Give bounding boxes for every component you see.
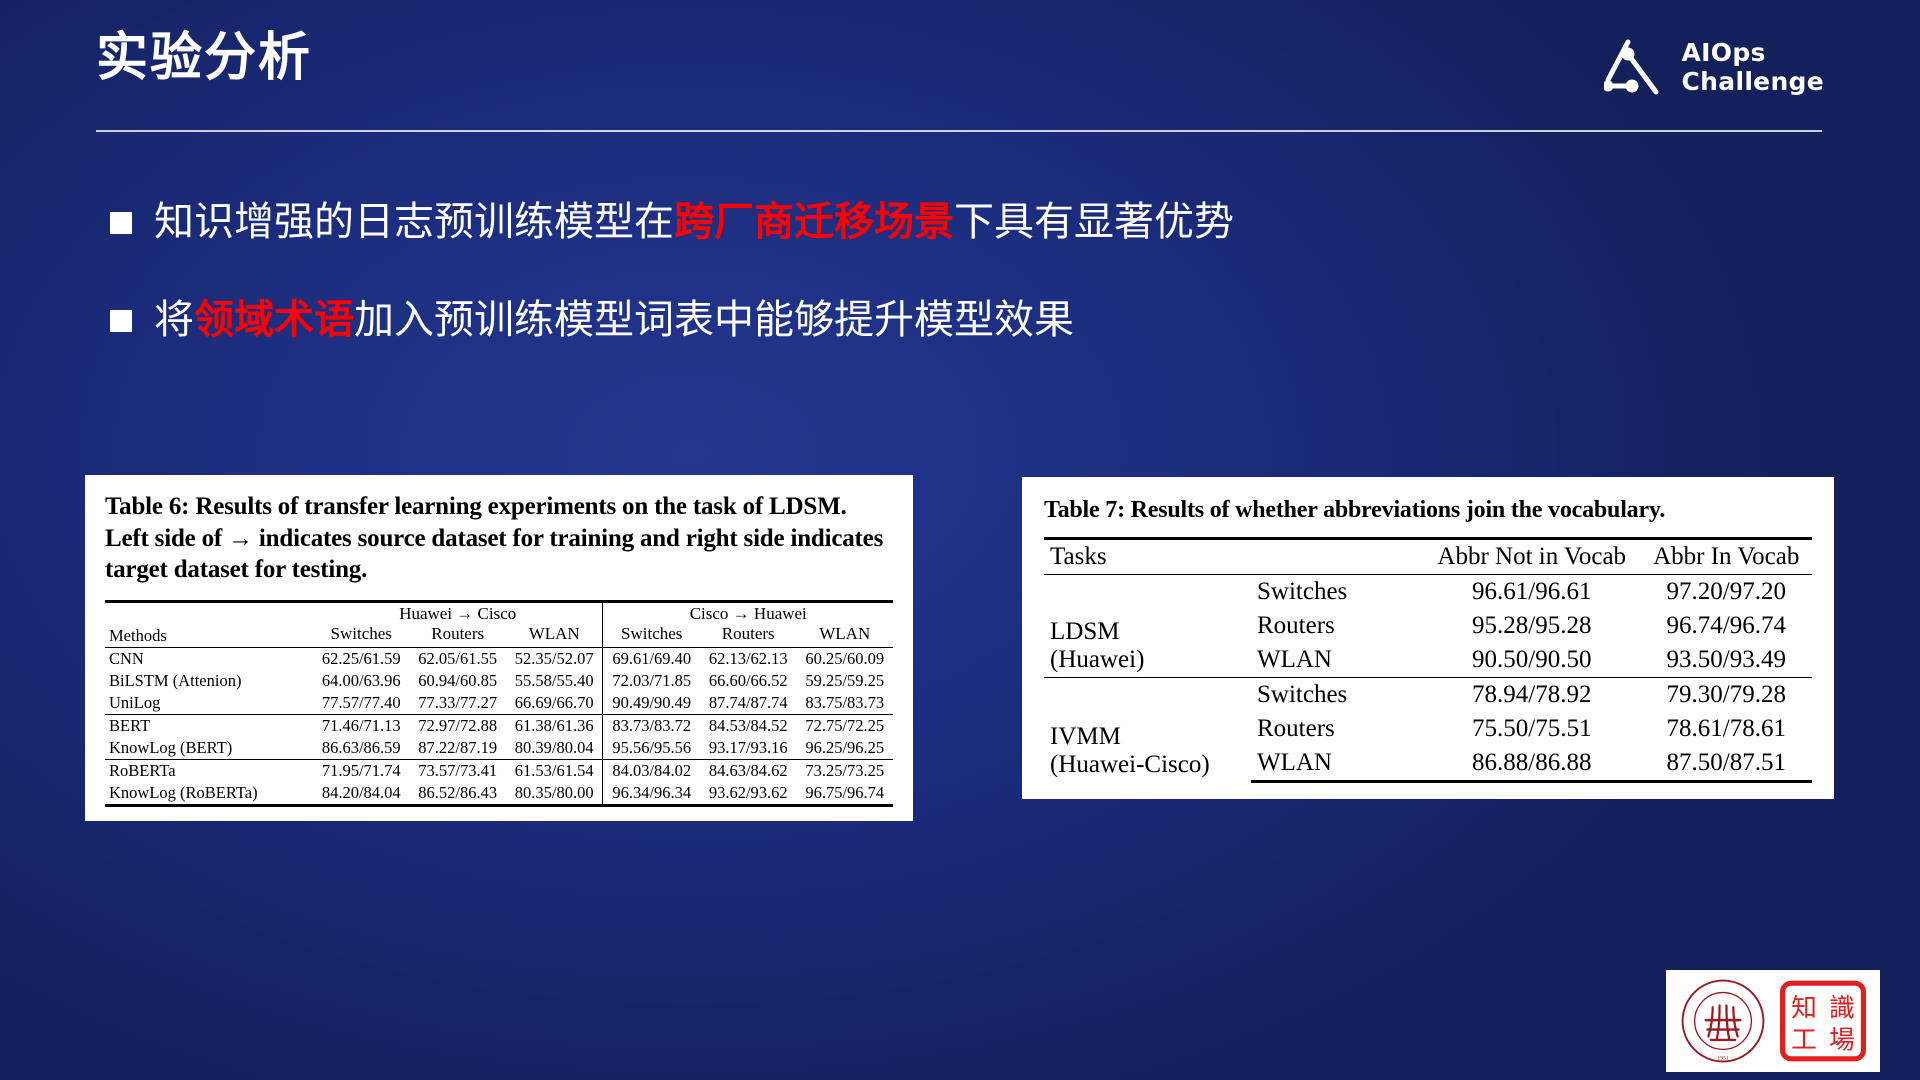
table-6-cell: 61.38/61.36 [506,714,603,737]
table-7-header-in-vocab: Abbr In Vocab [1640,539,1812,575]
table-7-device: Routers [1251,609,1423,643]
table-7-cell-not-in-vocab: 75.50/75.51 [1423,712,1640,746]
table-6-cell: 80.35/80.00 [506,782,603,806]
table-6-cell: 60.25/60.09 [796,647,893,670]
slide-root: 实验分析 AIOps Challenge 知识增强的日志预训练模型在跨厂商迁移场… [0,0,1920,1080]
table-6-method: RoBERTa [105,759,313,782]
table-6-cell: 60.94/60.85 [409,670,505,692]
table-6-sub-wlan-2: WLAN [796,624,893,648]
table-6-sub-routers-2: Routers [700,624,796,648]
square-bullet-icon [110,212,132,234]
table-6-cell: 62.13/62.13 [700,647,796,670]
brand-text: AIOps Challenge [1682,38,1824,96]
seal-char-chang: 場 [1829,1026,1855,1056]
table-row: BERT 71.46/71.13 72.97/72.88 61.38/61.36… [105,714,893,737]
donghua-university-seal-logo: · 1951 · [1680,978,1766,1064]
bullet-2-highlight: 领域术语 [194,297,354,343]
table-6-cell: 83.73/83.72 [603,714,700,737]
table-6: Methods Huawei → Cisco Cisco → Huawei Sw… [105,600,893,807]
table-6-cell: 77.57/77.40 [313,692,409,715]
dhu-year-text: · 1951 · [1714,1056,1732,1062]
table-6-method: KnowLog (RoBERTa) [105,782,313,806]
table-6-methods-header: Methods [105,601,313,647]
seal-char-shi: 識 [1829,994,1855,1024]
table-7-cell-in-vocab: 87.50/87.51 [1640,746,1812,782]
table-7-task-ivmm-line2: (Huawei-Cisco) [1050,751,1245,779]
bullet-text-2: 将领域术语加入预训练模型词表中能够提升模型效果 [154,293,1074,347]
table-7-cell-in-vocab: 79.30/79.28 [1640,678,1812,713]
table-6-card: Table 6: Results of transfer learning ex… [85,475,913,821]
table-7-card: Table 7: Results of whether abbreviation… [1022,477,1834,799]
table-6-cell: 96.75/96.74 [796,782,893,806]
page-title: 实验分析 [96,30,312,87]
table-row: RoBERTa 71.95/71.74 73.57/73.41 61.53/61… [105,759,893,782]
table-7-task-ldsm-line1: LDSM [1050,618,1245,646]
table-7-task-ldsm-line2: (Huawei) [1050,646,1245,674]
table-6-cell: 73.57/73.41 [409,759,505,782]
table-7-cell-not-in-vocab: 90.50/90.50 [1423,643,1640,678]
table-6-head: Methods Huawei → Cisco Cisco → Huawei Sw… [105,601,893,647]
table-7-header-tasks: Tasks [1044,539,1423,575]
table-6-cell: 96.25/96.25 [796,737,893,760]
table-7: Tasks Abbr Not in Vocab Abbr In Vocab LD… [1044,537,1812,783]
table-6-cell: 84.53/84.52 [700,714,796,737]
table-6-cell: 66.69/66.70 [506,692,603,715]
table-row: KnowLog (RoBERTa) 84.20/84.04 86.52/86.4… [105,782,893,806]
table-7-head: Tasks Abbr Not in Vocab Abbr In Vocab [1044,539,1812,575]
table-6-cell: 61.53/61.54 [506,759,603,782]
table-6-sub-switches-2: Switches [603,624,700,648]
table-6-cell: 62.05/61.55 [409,647,505,670]
table-6-cell: 80.39/80.04 [506,737,603,760]
title-divider [96,130,1822,132]
table-6-cell: 71.95/71.74 [313,759,409,782]
table-7-header-row: Tasks Abbr Not in Vocab Abbr In Vocab [1044,539,1812,575]
table-6-cell: 86.52/86.43 [409,782,505,806]
table-6-sub-routers-1: Routers [409,624,505,648]
table-6-cell: 95.56/95.56 [603,737,700,760]
table-6-cell: 73.25/73.25 [796,759,893,782]
table-6-cell: 84.03/84.02 [603,759,700,782]
bullet-1-part-1: 知识增强的日志预训练模型在 [154,199,674,245]
table-row: UniLog 77.57/77.40 77.33/77.27 66.69/66.… [105,692,893,715]
table-6-cell: 69.61/69.40 [603,647,700,670]
table-6-sub-switches-1: Switches [313,624,409,648]
table-row: BiLSTM (Attenion) 64.00/63.96 60.94/60.8… [105,670,893,692]
table-row: CNN 62.25/61.59 62.05/61.55 52.35/52.07 … [105,647,893,670]
table-6-cell: 77.33/77.27 [409,692,505,715]
table-6-method: UniLog [105,692,313,715]
table-6-sub-wlan-1: WLAN [506,624,603,648]
table-6-cell: 83.75/83.73 [796,692,893,715]
bullet-2-part-3: 加入预训练模型词表中能够提升模型效果 [354,297,1074,343]
table-7-cell-not-in-vocab: 95.28/95.28 [1423,609,1640,643]
bullet-item-1: 知识增强的日志预训练模型在跨厂商迁移场景下具有显著优势 [110,195,1610,249]
table-7-cell-not-in-vocab: 86.88/86.88 [1423,746,1640,782]
table-7-cell-in-vocab: 97.20/97.20 [1640,575,1812,610]
table-6-cell: 72.03/71.85 [603,670,700,692]
table-6-cell: 72.97/72.88 [409,714,505,737]
table-6-group-cisco-huawei: Cisco → Huawei [603,601,893,624]
bullet-item-2: 将领域术语加入预训练模型词表中能够提升模型效果 [110,293,1610,347]
table-6-cell: 84.20/84.04 [313,782,409,806]
table-7-cell-not-in-vocab: 78.94/78.92 [1423,678,1640,713]
bullet-text-1: 知识增强的日志预训练模型在跨厂商迁移场景下具有显著优势 [154,195,1234,249]
table-7-cell-in-vocab: 93.50/93.49 [1640,643,1812,678]
table-7-body: LDSM (Huawei) Switches 96.61/96.61 97.20… [1044,575,1812,782]
table-6-cell: 55.58/55.40 [506,670,603,692]
bullet-1-part-3: 下具有显著优势 [954,199,1234,245]
table-6-cell: 52.35/52.07 [506,647,603,670]
table-6-cell: 66.60/66.52 [700,670,796,692]
table-row: IVMM (Huawei-Cisco) Switches 78.94/78.92… [1044,678,1812,713]
table-6-cell: 62.25/61.59 [313,647,409,670]
table-7-cell-in-vocab: 78.61/78.61 [1640,712,1812,746]
table-7-device: Switches [1251,575,1423,610]
bullet-2-part-1: 将 [154,297,194,343]
table-6-cell: 96.34/96.34 [603,782,700,806]
table-6-cell: 64.00/63.96 [313,670,409,692]
table-6-group-row: Methods Huawei → Cisco Cisco → Huawei [105,601,893,624]
bullet-list: 知识增强的日志预训练模型在跨厂商迁移场景下具有显著优势 将领域术语加入预训练模型… [110,195,1610,391]
table-7-caption: Table 7: Results of whether abbreviation… [1044,495,1812,525]
table-7-cell-not-in-vocab: 96.61/96.61 [1423,575,1640,610]
table-6-cell: 71.46/71.13 [313,714,409,737]
brand-line-1: AIOps [1682,38,1824,67]
footer-logo-group: · 1951 · 知 識 工 場 [1666,970,1880,1072]
aiops-triangle-network-icon [1604,36,1668,98]
seal-char-gong: 工 [1791,1026,1817,1056]
table-6-cell: 59.25/59.25 [796,670,893,692]
table-6-cell: 90.49/90.49 [603,692,700,715]
knowledge-works-seal-logo: 知 識 工 場 [1780,978,1866,1064]
table-6-method: BiLSTM (Attenion) [105,670,313,692]
table-7-task-ldsm: LDSM (Huawei) [1044,575,1251,678]
table-7-task-ivmm-line1: IVMM [1050,723,1245,751]
table-6-cell: 86.63/86.59 [313,737,409,760]
table-7-header-not-in-vocab: Abbr Not in Vocab [1423,539,1640,575]
table-row: KnowLog (BERT) 86.63/86.59 87.22/87.19 8… [105,737,893,760]
bullet-1-highlight: 跨厂商迁移场景 [674,199,954,245]
table-6-cell: 72.75/72.25 [796,714,893,737]
table-6-cell: 93.62/93.62 [700,782,796,806]
table-6-cell: 93.17/93.16 [700,737,796,760]
table-6-cell: 84.63/84.62 [700,759,796,782]
table-7-cell-in-vocab: 96.74/96.74 [1640,609,1812,643]
table-7-device: WLAN [1251,643,1423,678]
table-6-group-huawei-cisco: Huawei → Cisco [313,601,603,624]
square-bullet-icon [110,310,132,332]
table-7-device: WLAN [1251,746,1423,782]
table-6-method: CNN [105,647,313,670]
brand-line-2: Challenge [1682,67,1824,96]
table-6-cell: 87.22/87.19 [409,737,505,760]
table-7-device: Routers [1251,712,1423,746]
table-6-body: CNN 62.25/61.59 62.05/61.55 52.35/52.07 … [105,647,893,805]
table-7-device: Switches [1251,678,1423,713]
table-6-cell: 87.74/87.74 [700,692,796,715]
table-6-method: BERT [105,714,313,737]
seal-char-zhi: 知 [1791,994,1817,1024]
table-6-caption: Table 6: Results of transfer learning ex… [105,491,893,586]
table-row: LDSM (Huawei) Switches 96.61/96.61 97.20… [1044,575,1812,610]
aiops-challenge-logo: AIOps Challenge [1604,36,1824,98]
table-6-method: KnowLog (BERT) [105,737,313,760]
table-7-task-ivmm: IVMM (Huawei-Cisco) [1044,678,1251,782]
